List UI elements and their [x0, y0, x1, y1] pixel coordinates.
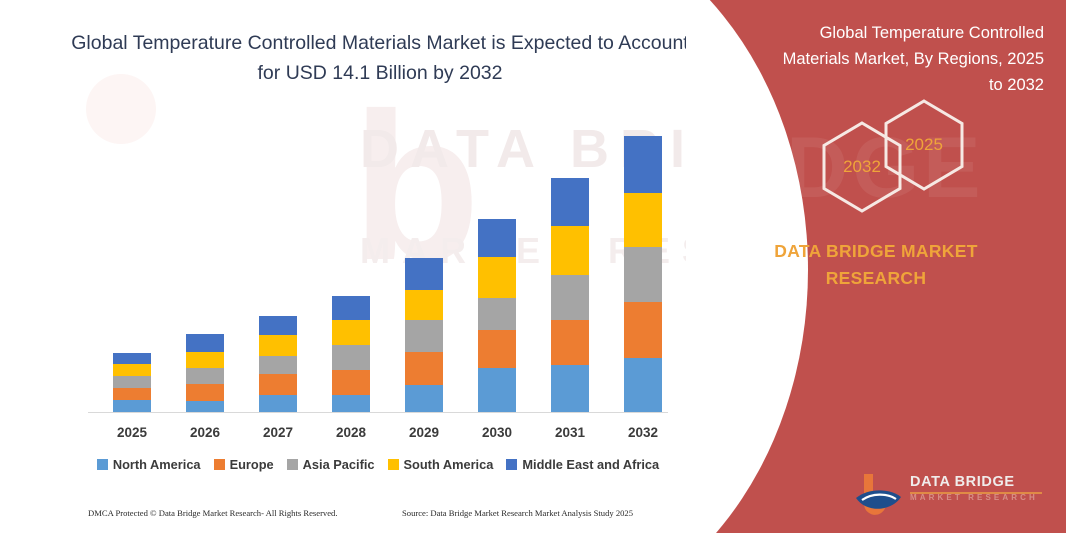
bar-segment — [405, 320, 443, 352]
bar-segment — [259, 374, 297, 395]
bar-segment — [624, 302, 662, 358]
legend-swatch-icon — [506, 459, 517, 470]
legend-label: South America — [404, 457, 494, 472]
bar-segment — [259, 356, 297, 374]
legend-item: Middle East and Africa — [506, 457, 659, 472]
dbmr-logo-subtitle: MARKET RESEARCH — [910, 493, 1052, 502]
x-tick-2030: 2030 — [467, 425, 527, 440]
panel-title: Global Temperature Controlled Materials … — [776, 20, 1044, 98]
x-axis-labels: 20252026202720282029203020312032 — [88, 425, 668, 447]
legend-item: Asia Pacific — [287, 457, 375, 472]
infographic-root: b DATA BRIDGE MARKET RESEARCH Global Tem… — [0, 0, 1066, 533]
bar-segment — [332, 370, 370, 395]
bar-2030 — [478, 219, 516, 412]
legend-label: Middle East and Africa — [522, 457, 659, 472]
year-hexagons: 2032 2025 — [804, 98, 1054, 218]
legend-swatch-icon — [287, 459, 298, 470]
bar-segment — [259, 395, 297, 412]
bar-2028 — [332, 296, 370, 412]
bar-2027 — [259, 316, 297, 412]
bar-segment — [405, 352, 443, 385]
legend-item: South America — [388, 457, 494, 472]
footer-copyright: DMCA Protected © Data Bridge Market Rese… — [88, 508, 338, 518]
x-tick-2029: 2029 — [394, 425, 454, 440]
legend-item: Europe — [214, 457, 274, 472]
legend-label: Asia Pacific — [303, 457, 375, 472]
bar-segment — [113, 388, 151, 400]
bar-segment — [405, 290, 443, 320]
bar-segment — [186, 334, 224, 352]
bar-segment — [478, 219, 516, 257]
chart-legend: North AmericaEuropeAsia PacificSouth Ame… — [88, 457, 668, 472]
x-tick-2027: 2027 — [248, 425, 308, 440]
legend-label: Europe — [230, 457, 274, 472]
x-tick-2028: 2028 — [321, 425, 381, 440]
x-tick-2025: 2025 — [102, 425, 162, 440]
bar-segment — [478, 330, 516, 368]
hexagon-start-year-label: 2032 — [843, 157, 881, 177]
bar-segment — [332, 395, 370, 412]
bar-segment — [113, 400, 151, 412]
bar-segment — [332, 320, 370, 345]
legend-label: North America — [113, 457, 201, 472]
bar-segment — [551, 226, 589, 275]
bar-segment — [624, 136, 662, 193]
footer-source: Source: Data Bridge Market Research Mark… — [402, 508, 633, 518]
bar-segment — [259, 335, 297, 356]
bar-segment — [624, 358, 662, 412]
dbmr-logo-rule — [910, 492, 1042, 494]
bar-2032 — [624, 136, 662, 412]
bar-segment — [551, 365, 589, 412]
dbmr-logo-text: DATA BRIDGE MARKET RESEARCH — [910, 474, 1052, 502]
x-axis-line — [88, 412, 668, 413]
legend-swatch-icon — [214, 459, 225, 470]
bar-segment — [186, 368, 224, 384]
bar-segment — [478, 257, 516, 298]
legend-item: North America — [97, 457, 201, 472]
bar-segment — [113, 353, 151, 364]
brand-name: DATA BRIDGE MARKET RESEARCH — [746, 238, 1006, 292]
bar-segment — [624, 247, 662, 302]
x-tick-2031: 2031 — [540, 425, 600, 440]
bar-segment — [186, 401, 224, 412]
bar-segment — [405, 258, 443, 290]
chart-panel: b DATA BRIDGE MARKET RESEARCH Global Tem… — [0, 0, 760, 533]
legend-swatch-icon — [388, 459, 399, 470]
bar-segment — [186, 384, 224, 401]
bar-segment — [624, 193, 662, 247]
bar-segment — [113, 364, 151, 376]
bar-segment — [405, 385, 443, 412]
title-panel: BRIDGE Global Temperature Controlled Mat… — [686, 0, 1066, 533]
bar-segment — [186, 352, 224, 368]
bar-2026 — [186, 334, 224, 412]
x-tick-2026: 2026 — [175, 425, 235, 440]
hexagon-end-year: 2025 — [882, 98, 966, 192]
bar-segment — [478, 298, 516, 330]
bar-2025 — [113, 353, 151, 412]
bar-2031 — [551, 178, 589, 412]
bar-segment — [478, 368, 516, 412]
bar-segment — [332, 296, 370, 320]
stacked-bar-chart: 20252026202720282029203020312032 — [0, 0, 760, 533]
x-tick-2032: 2032 — [613, 425, 673, 440]
legend-swatch-icon — [97, 459, 108, 470]
dbmr-logo-title: DATA BRIDGE — [910, 474, 1052, 490]
bar-segment — [332, 345, 370, 370]
dbmr-logo-icon — [854, 470, 904, 518]
bar-segment — [551, 178, 589, 226]
bar-segment — [113, 376, 151, 388]
bar-segment — [551, 275, 589, 320]
dbmr-logo: DATA BRIDGE MARKET RESEARCH — [854, 468, 1052, 520]
hexagon-end-year-label: 2025 — [905, 135, 943, 155]
bar-segment — [551, 320, 589, 365]
bar-segment — [259, 316, 297, 335]
bar-2029 — [405, 258, 443, 412]
